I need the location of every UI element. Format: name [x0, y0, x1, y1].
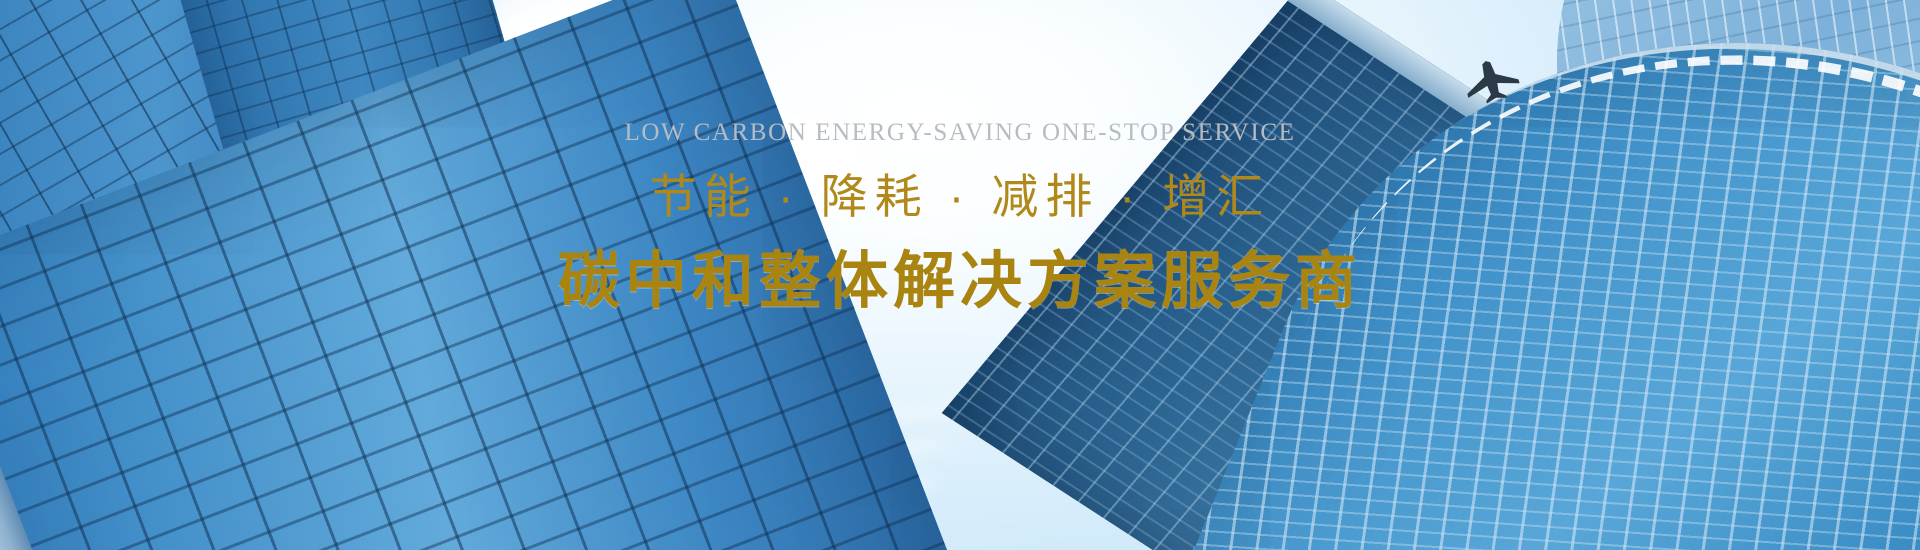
hero-banner: LOW CARBON ENERGY-SAVING ONE-STOP SERVIC…: [0, 0, 1920, 550]
banner-headline-secondary: 节能 · 降耗 · 减排 · 增汇: [0, 168, 1920, 227]
banner-headline-primary: 碳中和整体解决方案服务商: [0, 243, 1920, 321]
banner-text-block: LOW CARBON ENERGY-SAVING ONE-STOP SERVIC…: [0, 118, 1920, 320]
banner-subtitle-english: LOW CARBON ENERGY-SAVING ONE-STOP SERVIC…: [0, 118, 1920, 148]
